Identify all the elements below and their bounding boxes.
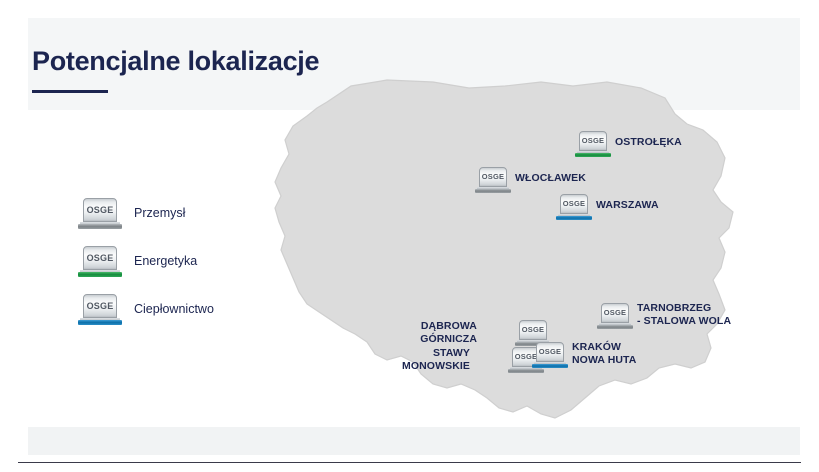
city-label-line2: - STALOWA WOLA — [637, 315, 731, 327]
osge-icon-energetyka: OSGE — [78, 246, 122, 278]
poland-silhouette — [275, 80, 733, 418]
osge-icon-body: OSGE — [83, 198, 117, 222]
osge-icon-base-blue — [532, 364, 568, 368]
city-label-stawy-monowskie: STAWY MONOWSKIE — [402, 347, 470, 372]
osge-watermark: OSGE — [87, 206, 114, 215]
city-label-line2: MONOWSKIE — [402, 360, 470, 372]
osge-watermark: OSGE — [482, 173, 504, 181]
footer-band — [28, 427, 800, 455]
osge-icon-body: OSGE — [83, 294, 117, 318]
city-label-warszawa: WARSZAWA — [596, 199, 659, 212]
osge-icon-ostroleka: OSGE — [575, 131, 611, 158]
footer-rule — [18, 462, 801, 463]
osge-watermark: OSGE — [604, 309, 626, 317]
osge-watermark: OSGE — [522, 326, 544, 334]
poland-map — [255, 72, 795, 444]
city-label-line2: GÓRNICZA — [420, 333, 477, 345]
osge-icon-base-green — [575, 153, 611, 157]
city-label-line1: TARNOBRZEG — [637, 302, 711, 314]
city-label-line1: DĄBROWA — [421, 320, 477, 332]
osge-icon-tarnobrzeg: OSGE — [597, 303, 633, 330]
osge-icon-body: OSGE — [536, 342, 564, 362]
osge-icon-wloclawek: OSGE — [475, 167, 511, 194]
osge-watermark: OSGE — [539, 348, 561, 356]
city-label-tarnobrzeg: TARNOBRZEG - STALOWA WOLA — [637, 302, 731, 327]
osge-watermark: OSGE — [87, 254, 114, 263]
osge-icon-base-gray — [78, 224, 122, 229]
title-underline — [32, 90, 108, 93]
city-label-dabrowa-gornicza: DĄBROWA GÓRNICZA — [420, 320, 477, 345]
osge-icon-krakow-nowa-huta: OSGE — [532, 342, 568, 369]
osge-icon-base-gray — [508, 369, 544, 373]
osge-watermark: OSGE — [87, 302, 114, 311]
osge-icon-body: OSGE — [479, 167, 507, 187]
osge-icon-body: OSGE — [579, 131, 607, 151]
city-label-line1: KRAKÓW — [572, 341, 621, 353]
osge-icon-base-gray — [597, 325, 633, 329]
osge-watermark: OSGE — [563, 200, 585, 208]
osge-icon-body: OSGE — [83, 246, 117, 270]
city-label-line2: NOWA HUTA — [572, 354, 636, 366]
osge-icon-warszawa: OSGE — [556, 194, 592, 221]
city-label-line1: STAWY — [433, 347, 470, 359]
osge-icon-base-blue — [78, 320, 122, 325]
osge-icon-body: OSGE — [601, 303, 629, 323]
osge-icon-base-green — [78, 272, 122, 277]
osge-icon-przemysl: OSGE — [78, 198, 122, 230]
legend-label-cieplownictwo: Ciepłownictwo — [134, 302, 214, 316]
city-label-ostroleka: OSTROŁĘKA — [615, 136, 682, 149]
osge-icon-cieplownictwo: OSGE — [78, 294, 122, 326]
osge-watermark: OSGE — [582, 137, 604, 145]
osge-icon-base-blue — [556, 216, 592, 220]
legend-label-przemysl: Przemysł — [134, 206, 185, 220]
city-label-wloclawek: WŁOCŁAWEK — [515, 172, 586, 185]
osge-icon-base-gray — [475, 189, 511, 193]
osge-icon-body: OSGE — [560, 194, 588, 214]
slide-canvas: Potencjalne lokalizacje OSGE Przemysł OS… — [0, 0, 819, 472]
city-label-krakow-nowa-huta: KRAKÓW NOWA HUTA — [572, 341, 636, 366]
osge-icon-body: OSGE — [519, 320, 547, 340]
legend-label-energetyka: Energetyka — [134, 254, 197, 268]
